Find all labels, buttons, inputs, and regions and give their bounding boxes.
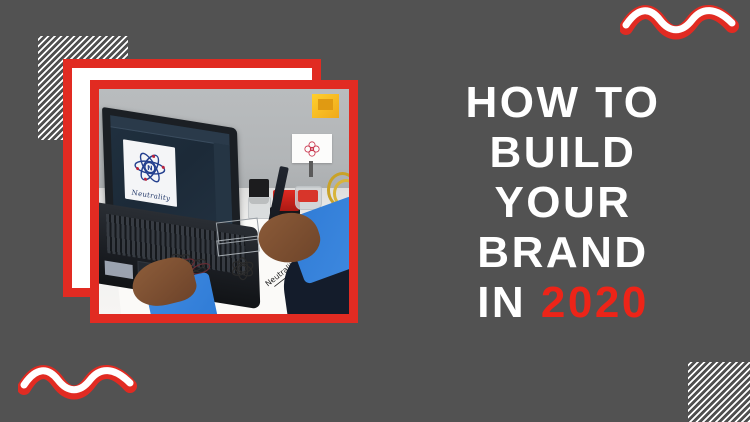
headline-line-1: HOW TO	[383, 78, 743, 128]
diagonal-stripe-square-bottom-right	[688, 362, 750, 422]
glass-cup	[248, 197, 271, 219]
headline: HOW TO BUILD YOUR BRAND IN 2020	[383, 78, 743, 328]
headline-year-accent: 2020	[541, 278, 649, 327]
flower-logo-icon	[299, 138, 324, 158]
paperclip-bowl-contents	[298, 190, 318, 201]
red-white-wave-bottom-left	[18, 364, 140, 400]
laptop-logo-wordmark: Neutrality	[125, 188, 178, 204]
thumbnail-canvas: N Neutrality	[0, 0, 750, 422]
headline-line-5: IN 2020	[383, 278, 743, 328]
laptop-sticker	[104, 260, 133, 279]
headline-line-3: YOUR	[383, 178, 743, 228]
headline-line-4: BRAND	[383, 228, 743, 278]
logo-artboard: N Neutrality	[123, 139, 177, 207]
headline-line-5-prefix: IN	[477, 278, 541, 327]
headline-line-2: BUILD	[383, 128, 743, 178]
card-stand-rod	[309, 161, 313, 177]
business-card-on-stand	[292, 134, 332, 163]
atom-icon: N	[130, 147, 170, 189]
svg-text:N: N	[147, 164, 153, 173]
photo-frame: N Neutrality	[90, 80, 358, 323]
design-app-sidebar	[214, 143, 232, 233]
sticky-note-inner	[318, 99, 333, 110]
photo-image: N Neutrality	[99, 89, 349, 314]
red-white-wave-top-right	[620, 4, 742, 40]
